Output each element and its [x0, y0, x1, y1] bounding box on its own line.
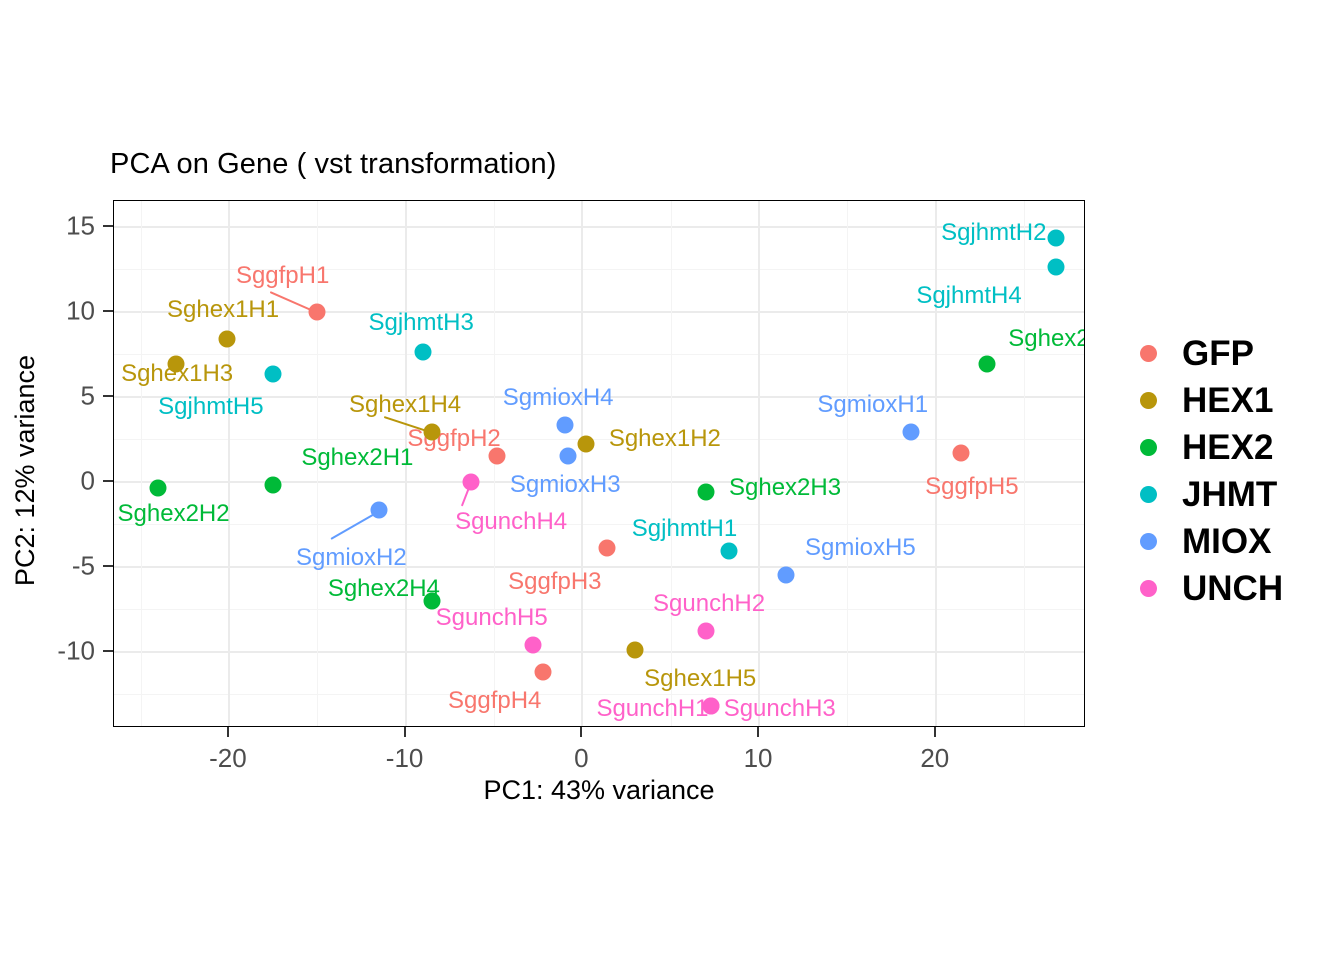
- y-axis-tick-mark: [103, 225, 113, 227]
- legend-label: JHMT: [1182, 475, 1277, 515]
- data-point[interactable]: [903, 424, 920, 441]
- y-axis-tick-mark: [103, 310, 113, 312]
- data-point[interactable]: [524, 636, 541, 653]
- gridline-horizontal-minor: [114, 439, 1084, 440]
- legend-dot-icon: [1140, 392, 1157, 409]
- gridline-vertical-major: [758, 201, 760, 726]
- x-axis-tick-mark: [580, 727, 582, 737]
- x-axis-tick-label: 10: [744, 743, 773, 774]
- point-label: SggfpH4: [448, 689, 541, 713]
- data-point[interactable]: [462, 473, 479, 490]
- data-point[interactable]: [371, 502, 388, 519]
- x-axis-title: PC1: 43% variance: [113, 775, 1085, 806]
- point-label: SgunchH2: [653, 592, 765, 616]
- data-point[interactable]: [560, 448, 577, 465]
- point-label: SgjhmtH1: [632, 517, 737, 541]
- point-label: SggfpH5: [925, 475, 1018, 499]
- data-point[interactable]: [703, 697, 720, 714]
- legend-dot-icon: [1140, 580, 1157, 597]
- data-point[interactable]: [167, 356, 184, 373]
- point-label: SgunchH5: [436, 606, 548, 630]
- data-point[interactable]: [577, 436, 594, 453]
- point-label: SgmioxH3: [510, 473, 621, 497]
- y-axis-tick-mark: [103, 650, 113, 652]
- x-axis-tick-label: 0: [574, 743, 588, 774]
- legend-item-hex1[interactable]: HEX1: [1128, 377, 1283, 424]
- legend-key: [1128, 580, 1168, 597]
- data-point[interactable]: [952, 444, 969, 461]
- page-title: PCA on Gene ( vst transformation): [110, 148, 557, 181]
- legend-item-hex2[interactable]: HEX2: [1128, 424, 1283, 471]
- gridline-vertical-minor: [847, 201, 848, 726]
- point-label: SgmioxH2: [296, 546, 407, 570]
- point-label: Sghex2H1: [301, 446, 413, 470]
- data-point[interactable]: [1047, 259, 1064, 276]
- point-label: SgmioxH1: [817, 393, 928, 417]
- point-label: SgjhmtH5: [158, 395, 263, 419]
- legend-item-miox[interactable]: MIOX: [1128, 518, 1283, 565]
- data-point[interactable]: [979, 356, 996, 373]
- gridline-horizontal-minor: [114, 609, 1084, 610]
- y-axis-title: PC2: 12% variance: [10, 207, 41, 734]
- gridline-horizontal-minor: [114, 524, 1084, 525]
- point-label: Sghex2H5: [1008, 327, 1085, 351]
- gridline-horizontal-minor: [114, 354, 1084, 355]
- legend-key: [1128, 533, 1168, 550]
- legend-item-gfp[interactable]: GFP: [1128, 330, 1283, 377]
- data-point[interactable]: [424, 424, 441, 441]
- data-point[interactable]: [219, 330, 236, 347]
- data-point[interactable]: [309, 303, 326, 320]
- legend-dot-icon: [1140, 439, 1157, 456]
- legend-key: [1128, 392, 1168, 409]
- legend-dot-icon: [1140, 533, 1157, 550]
- data-point[interactable]: [698, 623, 715, 640]
- legend-item-unch[interactable]: UNCH: [1128, 565, 1283, 612]
- legend-label: MIOX: [1182, 522, 1271, 562]
- legend-key: [1128, 345, 1168, 362]
- legend: GFPHEX1HEX2JHMTMIOXUNCH: [1128, 330, 1283, 612]
- point-label: Sghex1H5: [644, 667, 756, 691]
- data-point[interactable]: [415, 344, 432, 361]
- gridline-vertical-major: [581, 201, 583, 726]
- data-point[interactable]: [698, 483, 715, 500]
- point-label: SgjhmtH2: [941, 221, 1046, 245]
- x-axis-tick-mark: [404, 727, 406, 737]
- point-label: SgmioxH5: [805, 536, 916, 560]
- gridline-horizontal-major: [114, 226, 1084, 228]
- data-point[interactable]: [777, 567, 794, 584]
- point-label: Sghex2H3: [729, 476, 841, 500]
- x-axis-tick-label: 20: [920, 743, 949, 774]
- point-label: SgunchH1: [596, 697, 708, 721]
- point-label: Sghex2H2: [118, 502, 230, 526]
- point-label: SgmioxH4: [503, 386, 614, 410]
- data-point[interactable]: [721, 543, 738, 560]
- point-label: SggfpH3: [508, 570, 601, 594]
- x-axis-tick-mark: [934, 727, 936, 737]
- legend-dot-icon: [1140, 486, 1157, 503]
- point-label: Sghex1H4: [349, 393, 461, 417]
- x-axis-tick-mark: [227, 727, 229, 737]
- data-point[interactable]: [150, 480, 167, 497]
- gridline-vertical-major: [935, 201, 937, 726]
- data-point[interactable]: [599, 539, 616, 556]
- data-point[interactable]: [489, 448, 506, 465]
- data-point[interactable]: [627, 641, 644, 658]
- point-label: Sghex1H1: [167, 298, 279, 322]
- legend-label: HEX1: [1182, 381, 1273, 421]
- gridline-vertical-major: [228, 201, 230, 726]
- y-axis-tick-mark: [103, 565, 113, 567]
- x-axis-tick-label: -20: [209, 743, 247, 774]
- gridline-vertical-minor: [141, 201, 142, 726]
- y-axis-tick-mark: [103, 480, 113, 482]
- plot-panel: SggfpH1SggfpH2SggfpH3SggfpH4SggfpH5Sghex…: [113, 200, 1085, 727]
- data-point[interactable]: [535, 663, 552, 680]
- legend-key: [1128, 486, 1168, 503]
- point-label: Sghex1H2: [609, 427, 721, 451]
- gridline-vertical-minor: [1024, 201, 1025, 726]
- data-point[interactable]: [1047, 230, 1064, 247]
- point-label: SgunchH4: [455, 510, 567, 534]
- gridline-horizontal-major: [114, 651, 1084, 653]
- legend-key: [1128, 439, 1168, 456]
- pca-plot-figure: PCA on Gene ( vst transformation) SggfpH…: [0, 0, 1344, 960]
- data-point[interactable]: [556, 417, 573, 434]
- x-axis-tick-label: -10: [386, 743, 424, 774]
- legend-item-jhmt[interactable]: JHMT: [1128, 471, 1283, 518]
- gridline-vertical-minor: [671, 201, 672, 726]
- point-label: SgjhmtH4: [916, 284, 1021, 308]
- legend-dot-icon: [1140, 345, 1157, 362]
- point-label: SggfpH1: [236, 264, 329, 288]
- y-axis-tick-mark: [103, 395, 113, 397]
- data-point[interactable]: [265, 476, 282, 493]
- legend-label: GFP: [1182, 334, 1254, 374]
- x-axis-tick-mark: [757, 727, 759, 737]
- legend-label: UNCH: [1182, 569, 1283, 609]
- legend-label: HEX2: [1182, 428, 1273, 468]
- data-point[interactable]: [265, 366, 282, 383]
- point-label: SgjhmtH3: [368, 311, 473, 335]
- point-label: SgunchH3: [724, 697, 836, 721]
